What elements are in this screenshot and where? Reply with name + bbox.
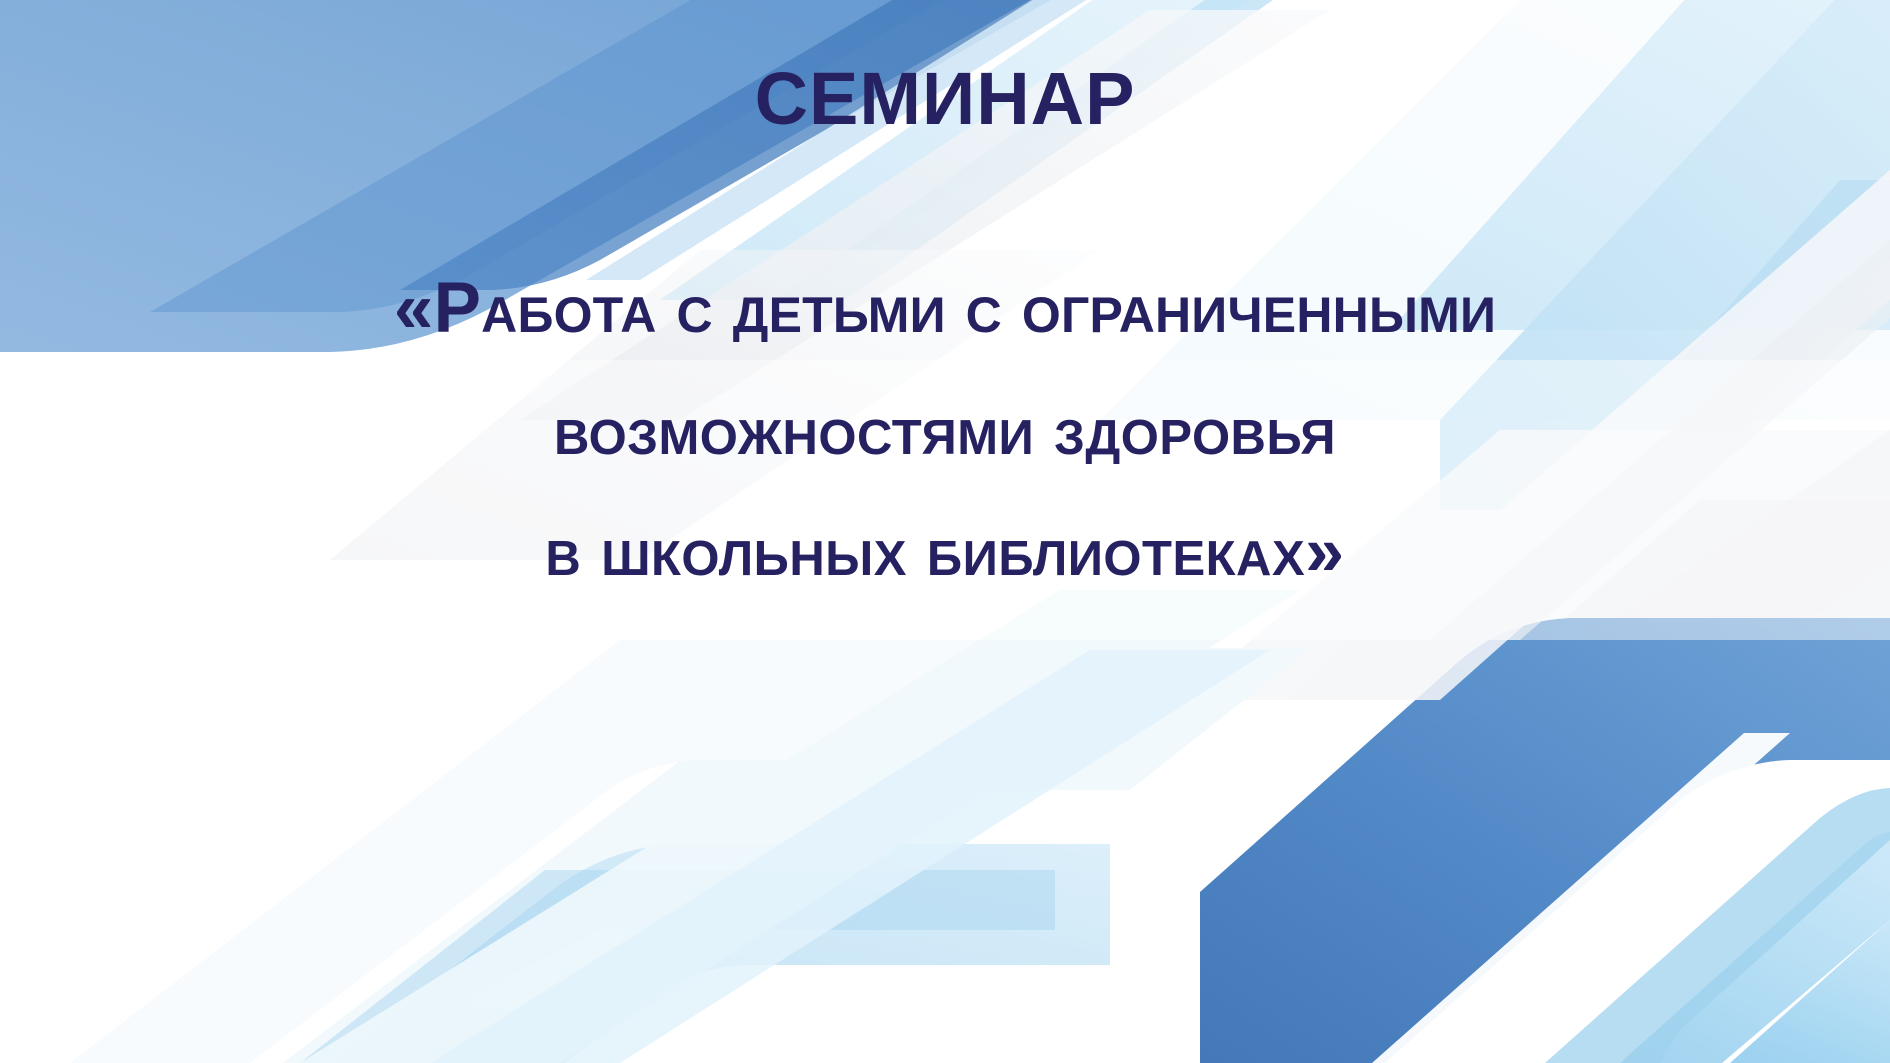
subtitle-line-3: в школьных библиотеках» — [65, 491, 1825, 611]
subtitle-line-1: «Работа с детьми с ограниченными — [65, 248, 1825, 370]
subtitle-line-2: возможностями здоровья — [65, 370, 1825, 490]
slide-subtitle: «Работа с детьми с ограниченными возможн… — [65, 248, 1825, 611]
presentation-slide: СЕМИНАР «Работа с детьми с ограниченными… — [0, 0, 1890, 1063]
page-title: СЕМИНАР — [755, 62, 1136, 136]
slide-content: СЕМИНАР «Работа с детьми с ограниченными… — [0, 0, 1890, 1063]
